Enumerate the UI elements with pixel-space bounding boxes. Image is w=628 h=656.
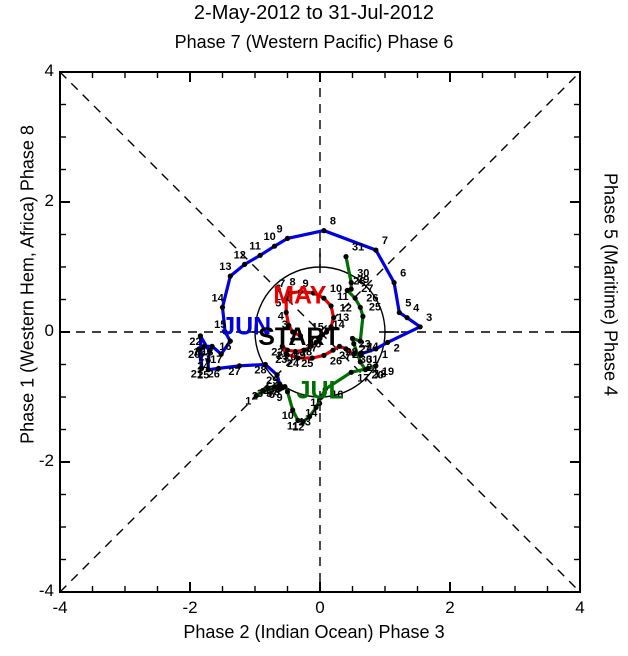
data-point [258,253,263,258]
day-label: 14 [212,292,225,304]
day-label: 2 [394,342,400,354]
day-label: 4 [413,303,420,315]
day-label: 4 [278,311,285,323]
day-label: 17 [357,372,369,384]
data-point [373,248,378,253]
data-point [349,370,354,375]
data-point [358,305,363,310]
data-point [328,303,333,308]
day-label: 27 [228,366,240,378]
data-point [284,310,289,315]
day-label: 11 [249,240,261,252]
month-label-jul: JUL [297,376,344,404]
day-label: 21 [366,362,378,374]
mjo-phase-diagram: 2-May-2012 to 31-Jul-2012 Phase 7 (Weste… [0,0,628,656]
data-point [220,305,225,310]
y-tick-label: -4 [26,581,54,601]
day-label: 25 [301,358,313,370]
day-label: 14 [305,407,318,419]
data-point [242,262,247,267]
day-label: 3 [426,312,432,324]
data-point [360,314,365,319]
day-label: 10 [264,231,276,243]
data-point [392,280,397,285]
data-point [282,384,287,389]
data-point [343,254,348,259]
y-tick-label: 2 [26,191,54,211]
day-label: 23 [275,354,287,366]
data-point [285,236,290,241]
day-label: 1 [382,349,388,361]
day-label: 24 [366,341,379,353]
data-point [272,244,277,249]
data-point [353,296,358,301]
data-point [285,389,290,394]
data-point [321,353,326,358]
day-label: 11 [337,291,349,303]
day-label: 5 [405,298,411,310]
start-label: START [258,323,339,351]
day-label: 26 [208,368,220,380]
day-label: 6 [400,268,406,280]
data-point [418,324,423,329]
data-point [228,274,233,279]
x-tick-label: -2 [178,598,202,618]
data-point [385,340,390,345]
day-label: 9 [277,223,283,235]
day-label: 7 [382,235,388,247]
y-tick-label: -2 [26,451,54,471]
plot-canvas: 2345678910111213141516171819202122232425… [0,0,628,656]
data-point [321,228,326,233]
data-point [350,336,355,341]
data-point [397,310,402,315]
x-tick-label: 0 [308,598,332,618]
day-label: 8 [330,216,336,228]
day-label: 28 [254,365,266,377]
day-label: 9 [277,392,283,404]
day-label: 22 [189,336,201,348]
x-tick-label: 4 [568,598,592,618]
day-label: 12 [234,249,246,261]
day-label: 30 [357,268,369,280]
day-label: 16 [219,341,231,353]
y-tick-label: 4 [26,61,54,81]
x-tick-label: -4 [48,598,72,618]
x-tick-label: 2 [438,598,462,618]
y-tick-label: 0 [26,321,54,341]
month-label-may: MAY [273,281,327,309]
data-point [405,315,410,320]
day-label: 13 [219,261,231,273]
day-label: 3 [257,388,263,400]
day-label: 31 [352,242,364,254]
day-label: 24 [287,358,300,370]
day-label: 1 [245,396,251,408]
